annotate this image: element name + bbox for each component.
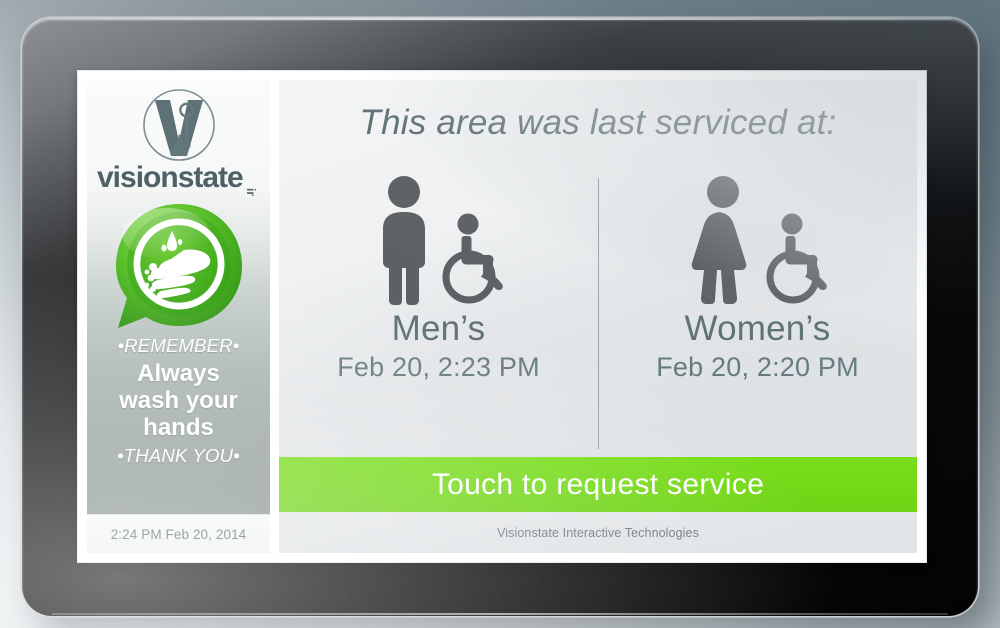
main-footer: Visionstate Interactive Technologies — [279, 512, 917, 553]
rooms-divider — [598, 178, 599, 449]
request-service-label: Touch to request service — [432, 468, 764, 502]
room-card-mens[interactable]: Men’s Feb 20, 2:23 PM — [279, 166, 598, 457]
bezel-bottom-highlight — [52, 613, 948, 615]
tablet-screen: visionstate inc — [78, 71, 926, 562]
bezel-top-highlight — [48, 18, 952, 20]
message-thank-you: •THANK YOU• — [93, 444, 264, 467]
wordmark-suffix: inc — [244, 188, 258, 196]
message-remember: •REMEMBER• — [93, 334, 264, 357]
room-card-womens[interactable]: Women’s Feb 20, 2:20 PM — [598, 166, 917, 457]
message-line-3: hands — [93, 414, 264, 441]
womens-icon-group — [683, 170, 833, 305]
hand-washing-icon — [106, 198, 252, 332]
mens-last-serviced-time: Feb 20, 2:23 PM — [337, 352, 540, 383]
tablet-device: visionstate inc — [22, 18, 978, 616]
female-restroom-icon — [683, 175, 763, 305]
message-line-2: wash your — [93, 387, 264, 414]
current-timestamp: 2:24 PM Feb 20, 2014 — [111, 527, 247, 542]
page-title: This area was last serviced at: — [360, 103, 837, 143]
mens-icon-group — [369, 170, 509, 305]
rooms-container: Men’s Feb 20, 2:23 PM — [279, 166, 917, 457]
mens-room-name: Men’s — [392, 309, 486, 349]
current-timestamp-bar: 2:24 PM Feb 20, 2014 — [87, 514, 270, 553]
male-restroom-icon — [369, 175, 439, 305]
main-header: This area was last serviced at: — [279, 80, 917, 166]
brand-logo: visionstate inc — [87, 80, 270, 196]
womens-last-serviced-time: Feb 20, 2:20 PM — [656, 352, 859, 383]
footer-company-name: Visionstate Interactive Technologies — [497, 526, 699, 540]
request-service-button[interactable]: Touch to request service — [279, 457, 917, 512]
sidebar-panel: visionstate inc — [87, 80, 270, 553]
wheelchair-accessible-icon — [763, 213, 833, 305]
wheelchair-accessible-icon — [439, 213, 509, 305]
scene-background: visionstate inc — [0, 0, 1000, 628]
main-panel: This area was last serviced at: — [279, 80, 917, 553]
womens-room-name: Women’s — [685, 309, 831, 349]
visionstate-wordmark: visionstate inc — [97, 160, 267, 196]
wordmark-text: visionstate — [97, 161, 243, 194]
hygiene-message: •REMEMBER• Always wash your hands •THANK… — [87, 334, 270, 468]
visionstate-v-person-logo-icon — [127, 88, 231, 162]
message-line-1: Always — [93, 360, 264, 387]
hygiene-badge — [87, 198, 270, 332]
